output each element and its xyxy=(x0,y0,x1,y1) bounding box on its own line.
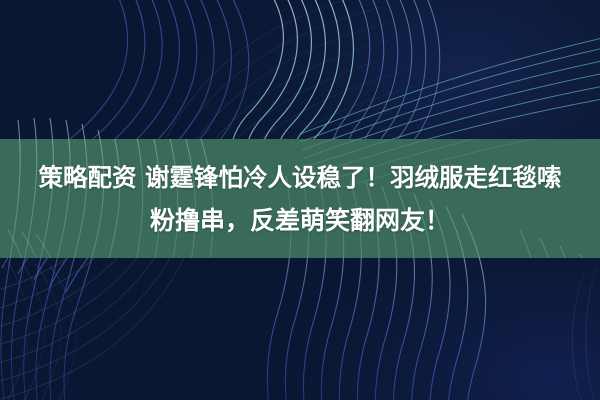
caption-text-block: 策略配资 谢霆锋怕冷人设稳了！羽绒服走红毯嗦 粉撸串，反差萌笑翻网友！ xyxy=(0,139,600,258)
promo-banner: 策略配资 谢霆锋怕冷人设稳了！羽绒服走红毯嗦 粉撸串，反差萌笑翻网友！ xyxy=(0,0,600,400)
caption-line-1: 策略配资 谢霆锋怕冷人设稳了！羽绒服走红毯嗦 xyxy=(38,156,561,199)
caption-line-2: 粉撸串，反差萌笑翻网友！ xyxy=(150,199,450,242)
